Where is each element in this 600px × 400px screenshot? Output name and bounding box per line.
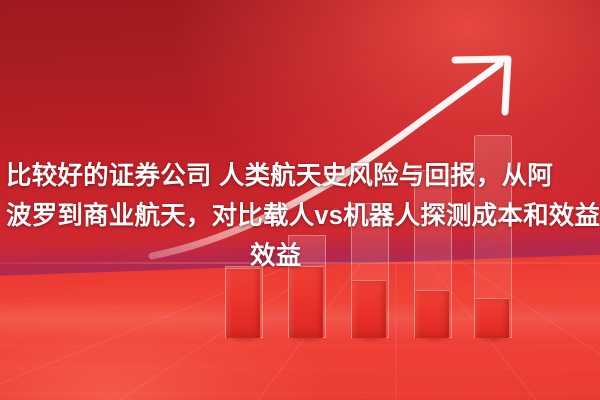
bar-fill-2 <box>289 266 323 338</box>
headline-line-3: 效益 <box>6 236 600 276</box>
page-title: 比较好的证券公司 人类航天史风险与回报，从阿 波罗到商业航天，对比载人vs机器人… <box>6 156 600 276</box>
bar-fill-1 <box>226 268 260 338</box>
banner-image: 比较好的证券公司 人类航天史风险与回报，从阿 波罗到商业航天，对比载人vs机器人… <box>0 0 600 400</box>
headline-line-2: 波罗到商业航天，对比载人vs机器人探测成本和效益 <box>6 196 600 236</box>
bar-fill-4 <box>415 290 449 338</box>
headline-line-1: 比较好的证券公司 人类航天史风险与回报，从阿 <box>6 156 600 196</box>
bar-fill-5 <box>475 298 509 338</box>
bar-fill-3 <box>352 280 386 338</box>
